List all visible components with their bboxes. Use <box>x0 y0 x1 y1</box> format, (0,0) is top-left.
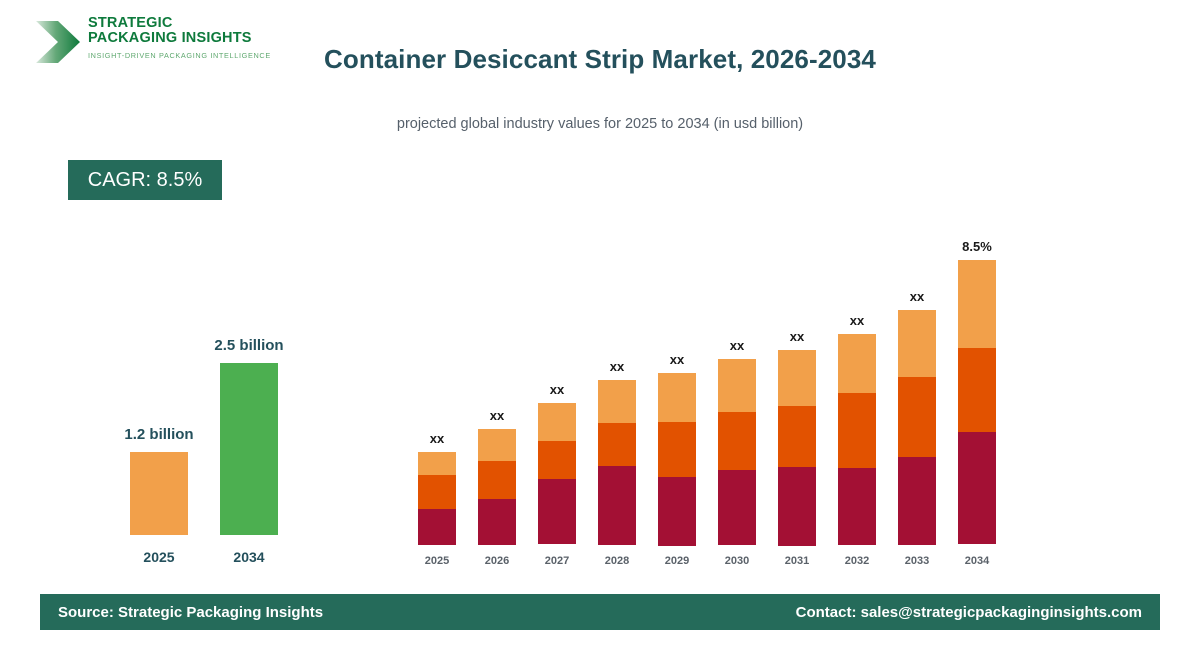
stacked-bar-segment <box>718 412 756 470</box>
cagr-badge: CAGR: 8.5% <box>68 160 222 200</box>
stacked-bar-column: xx2028 <box>598 190 636 570</box>
stacked-bar-segment <box>958 432 996 544</box>
comparison-bar: 2.5 billion2034 <box>220 363 278 535</box>
stacked-bar-value-label: xx <box>452 408 542 423</box>
stacked-bar-segment <box>838 393 876 468</box>
stacked-bar-segment <box>598 423 636 466</box>
stacked-bar <box>658 373 696 545</box>
bar-rect <box>130 452 188 535</box>
stacked-bar-column: xx2026 <box>478 190 516 570</box>
footer-source: Source: Strategic Packaging Insights <box>58 604 323 621</box>
stacked-bar-segment <box>418 509 456 545</box>
stacked-bar-segment <box>898 310 936 377</box>
stacked-bar-segment <box>898 457 936 545</box>
stacked-bar-segment <box>598 466 636 545</box>
stacked-bar <box>478 429 516 545</box>
page-title: Container Desiccant Strip Market, 2026-2… <box>0 44 1200 75</box>
stacked-bar-segment <box>658 373 696 422</box>
stacked-bar-segment <box>478 429 516 461</box>
stacked-bar-value-label: xx <box>812 313 902 328</box>
page-subtitle: projected global industry values for 202… <box>0 116 1200 132</box>
bar-rect <box>220 363 278 535</box>
stacked-bar-segment <box>718 359 756 412</box>
stacked-bar-segment <box>958 260 996 348</box>
comparison-bar: 1.2 billion2025 <box>130 452 188 535</box>
stacked-bar <box>838 334 876 545</box>
stacked-bar <box>958 260 996 545</box>
bar-value-label: 1.2 billion <box>79 426 239 443</box>
footer-contact: Contact: sales@strategicpackaginginsight… <box>796 604 1142 621</box>
stacked-bar-segment <box>838 334 876 393</box>
logo-line-1: STRATEGIC <box>88 16 271 31</box>
stacked-bar-value-label: xx <box>752 329 842 344</box>
stacked-bar-value-label: xx <box>392 431 482 446</box>
stacked-bar <box>418 452 456 545</box>
stacked-bar-column: 8.5%2034 <box>958 190 996 570</box>
stacked-bar-value-label: 8.5% <box>932 239 1022 254</box>
stacked-bar-segment <box>478 461 516 499</box>
footer-bar: Source: Strategic Packaging Insights Con… <box>40 594 1160 630</box>
stacked-bar-column: xx2029 <box>658 190 696 570</box>
stacked-bar-column: xx2030 <box>718 190 756 570</box>
stacked-bar-column: xx2027 <box>538 190 576 570</box>
chart-infographic-page: STRATEGIC PACKAGING INSIGHTS INSIGHT-DRI… <box>0 0 1200 650</box>
stacked-bar-value-label: xx <box>632 352 722 367</box>
stacked-bar-column: xx2025 <box>418 190 456 570</box>
stacked-bar-column: xx2031 <box>778 190 816 570</box>
segment-forecast-stacked-chart: xx2025xx2026xx2027xx2028xx2029xx2030xx20… <box>400 190 1020 570</box>
stacked-bar-segment <box>598 380 636 423</box>
stacked-bar <box>778 350 816 545</box>
stacked-bar <box>898 310 936 545</box>
stacked-bar-segment <box>778 467 816 546</box>
stacked-bar-segment <box>958 348 996 432</box>
bar-value-label: 2.5 billion <box>169 337 329 354</box>
stacked-bar-segment <box>478 499 516 545</box>
stacked-bar-segment <box>778 406 816 467</box>
stacked-bar-segment <box>838 468 876 545</box>
stacked-bar-segment <box>658 422 696 477</box>
stacked-bar-segment <box>418 452 456 475</box>
stacked-bar-segment <box>538 479 576 544</box>
stacked-bar-category-label: 2034 <box>932 555 1022 567</box>
stacked-bar <box>538 403 576 545</box>
bar-category-label: 2034 <box>169 549 329 565</box>
stacked-bar-segment <box>658 477 696 546</box>
stacked-bar-segment <box>418 475 456 509</box>
stacked-bar-segment <box>538 403 576 441</box>
stacked-bar-segment <box>538 441 576 479</box>
stacked-bar-column: xx2032 <box>838 190 876 570</box>
stacked-bar-segment <box>718 470 756 545</box>
stacked-bar-segment <box>778 350 816 406</box>
stacked-bar <box>598 380 636 545</box>
stacked-bar <box>718 359 756 545</box>
stacked-bar-value-label: xx <box>512 382 602 397</box>
stacked-bar-column: xx2033 <box>898 190 936 570</box>
market-size-comparison-chart: 1.2 billion20252.5 billion2034 <box>50 300 320 570</box>
stacked-bar-segment <box>898 377 936 457</box>
stacked-bar-value-label: xx <box>872 289 962 304</box>
